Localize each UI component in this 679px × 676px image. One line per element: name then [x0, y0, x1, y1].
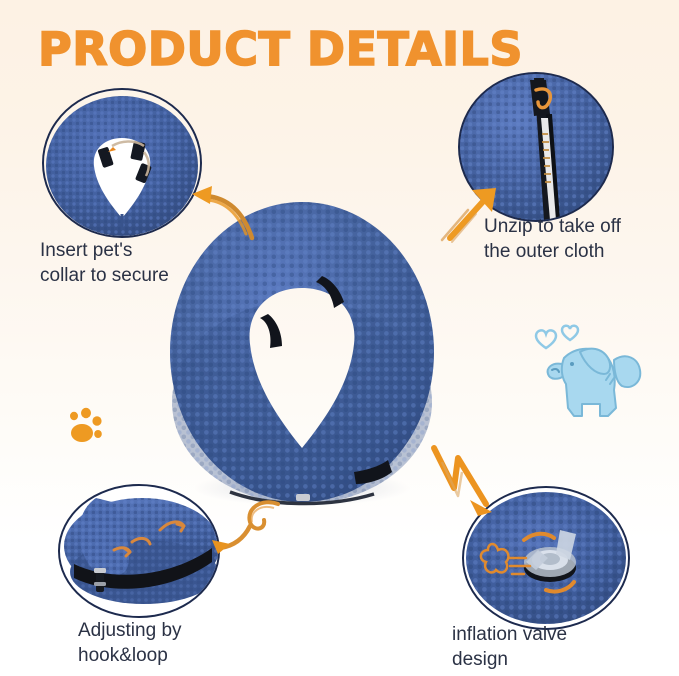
product-image-neck-pillow — [168, 196, 436, 508]
dog-body — [548, 349, 641, 416]
curved-arrow-up-left-icon — [186, 184, 262, 242]
page-title: PRODUCT DETAILS — [38, 20, 523, 78]
caption-insert-collar: Insert pet's collar to secure — [40, 238, 169, 288]
caption-inflation-valve: inflation valve design — [452, 622, 567, 672]
caption-unzip-cloth: Unzip to take off the outer cloth — [484, 214, 621, 264]
zigzag-arrow-down-right-icon — [420, 438, 502, 522]
paw-print-icon — [66, 406, 110, 448]
caption-hook-loop: Adjusting by hook&loop — [78, 618, 182, 668]
curled-arrow-down-left-icon — [204, 482, 284, 554]
dog-illustration — [522, 312, 662, 432]
product-details-infographic: PRODUCT DETAILS — [0, 0, 679, 676]
heart-icon — [536, 326, 578, 348]
